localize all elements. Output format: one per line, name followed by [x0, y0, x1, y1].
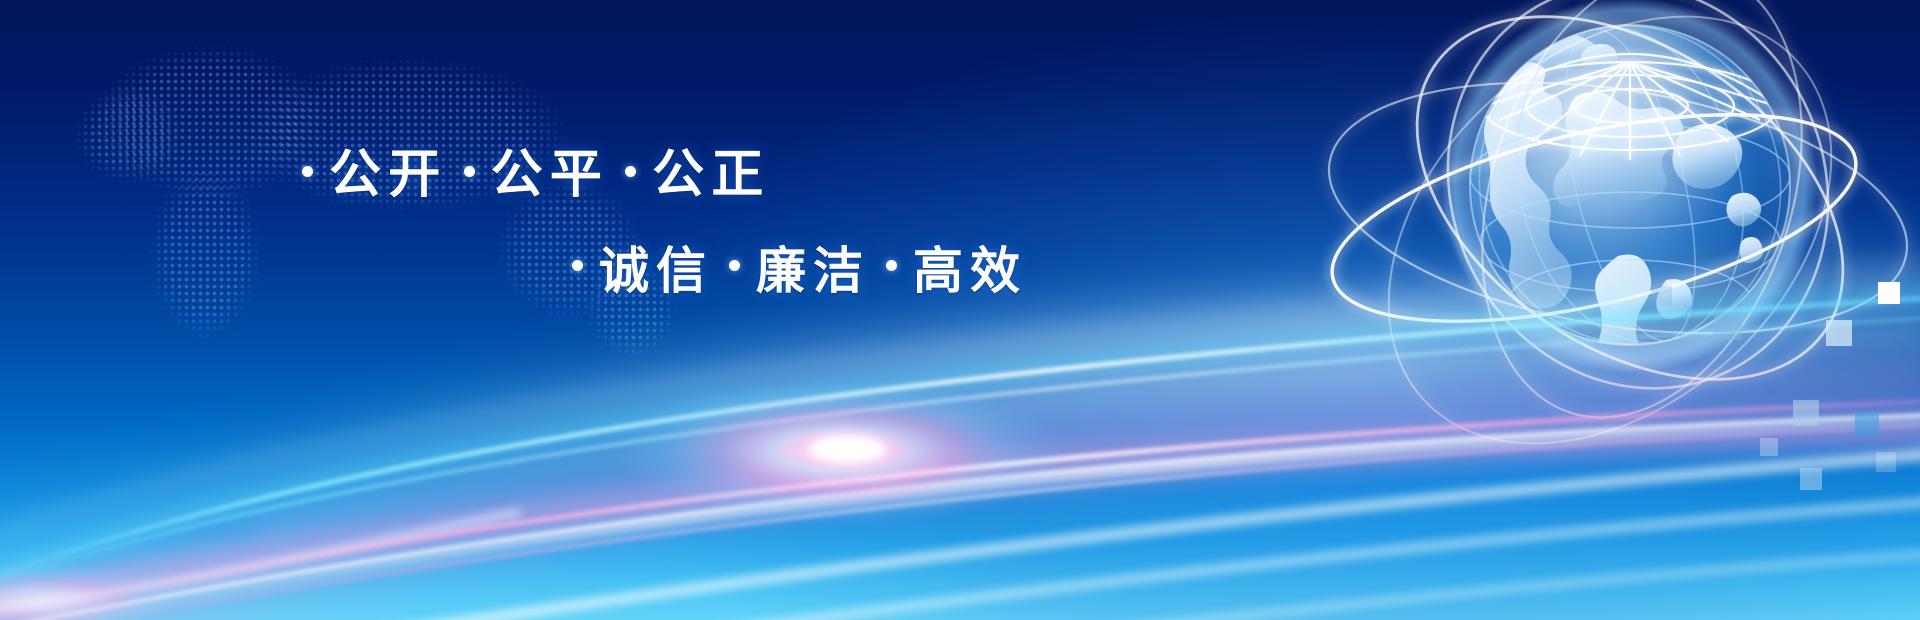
globe-wireframe-graphic [1380, 0, 1920, 440]
slogan-word-chengxin: 诚信 [599, 246, 713, 296]
slogan-separator-dot [572, 260, 583, 271]
decorative-square [1800, 468, 1822, 490]
slogan-line-1: 公开公平公正 [286, 146, 771, 202]
slogan-separator-dot [302, 166, 313, 177]
slogan-line-2: 诚信廉洁高效 [556, 240, 1027, 296]
slogan-separator-dot [625, 166, 636, 177]
light-streak-graphic [0, 0, 1920, 620]
decorative-square [1714, 312, 1742, 340]
slogan-word-gongkai: 公开 [329, 150, 448, 202]
decorative-square [1793, 400, 1819, 426]
dotmap-region-west-europe [40, 60, 200, 210]
promotional-banner: 公开公平公正 诚信廉洁高效 [0, 0, 1920, 620]
slogan-word-lianjie: 廉洁 [756, 246, 870, 296]
slogan-separator-dot [464, 166, 475, 177]
slogan-word-gongzheng: 公正 [652, 150, 771, 202]
decorative-square [1876, 452, 1896, 472]
dotmap-region-europe [60, 22, 360, 222]
dotmap-region-oceania [560, 250, 720, 400]
slogan-word-gaoxiao: 高效 [913, 246, 1027, 296]
slogan-word-gongping: 公平 [491, 150, 610, 202]
slogan-separator-dot [886, 260, 897, 271]
decorative-square [1652, 286, 1672, 306]
slogan-separator-dot [729, 260, 740, 271]
decorative-square [1855, 412, 1879, 436]
decorative-square [1760, 438, 1778, 456]
decorative-square [1878, 282, 1900, 304]
dotmap-region-asia [230, 30, 620, 240]
dotmap-region-southeast-asia [470, 170, 690, 370]
decorative-square [1826, 320, 1852, 346]
dotmap-region-africa [120, 150, 290, 380]
